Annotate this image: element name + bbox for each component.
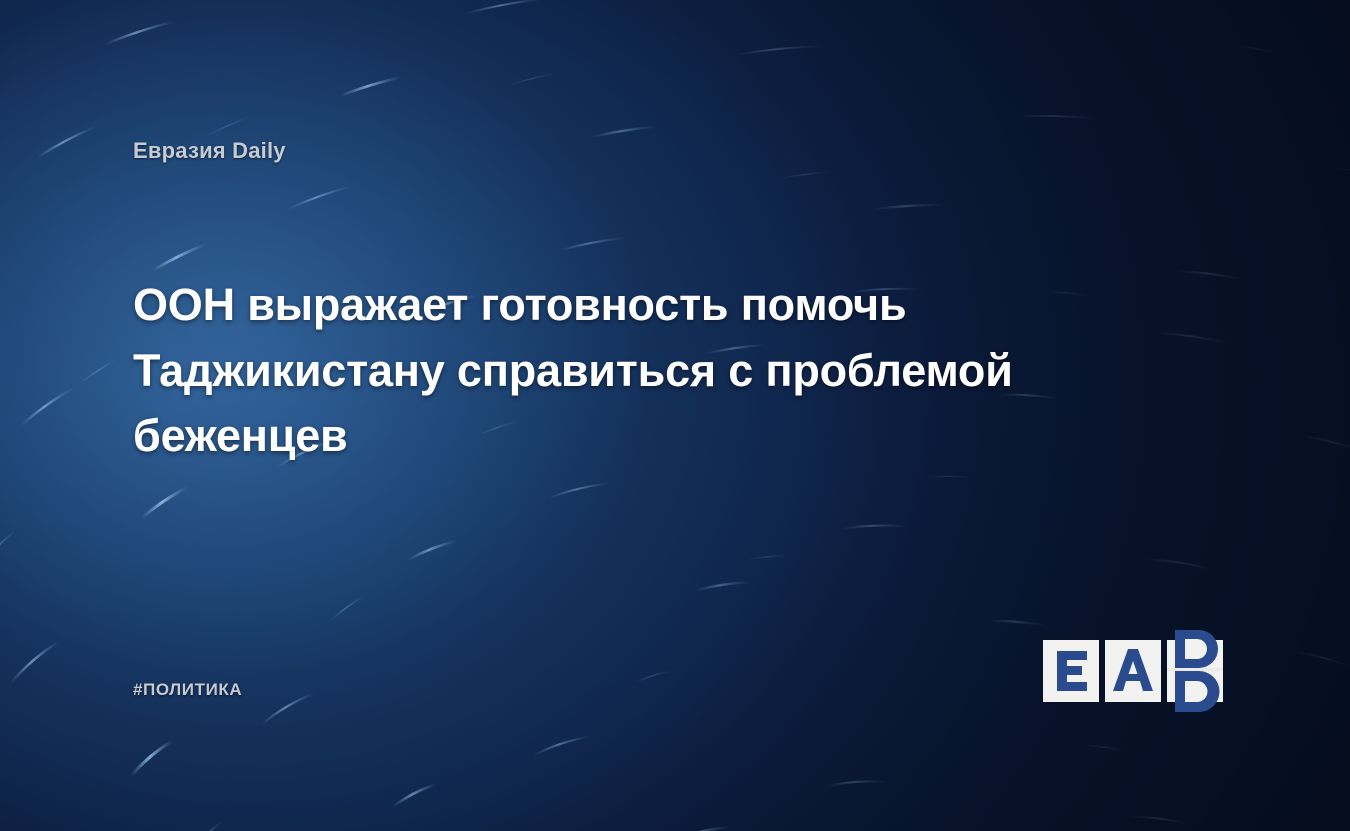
headline: ООН выражает готовность помочь Таджикист… [133, 272, 1218, 469]
news-share-card: Евразия Daily ООН выражает готовность по… [0, 0, 1350, 831]
eadaily-logo[interactable] [1043, 630, 1228, 712]
logo-letter-d [1167, 630, 1223, 712]
category-tag[interactable]: #ПОЛИТИКА [133, 680, 242, 700]
card-content: Евразия Daily ООН выражает готовность по… [0, 0, 1350, 831]
brand-label: Евразия Daily [133, 138, 286, 164]
